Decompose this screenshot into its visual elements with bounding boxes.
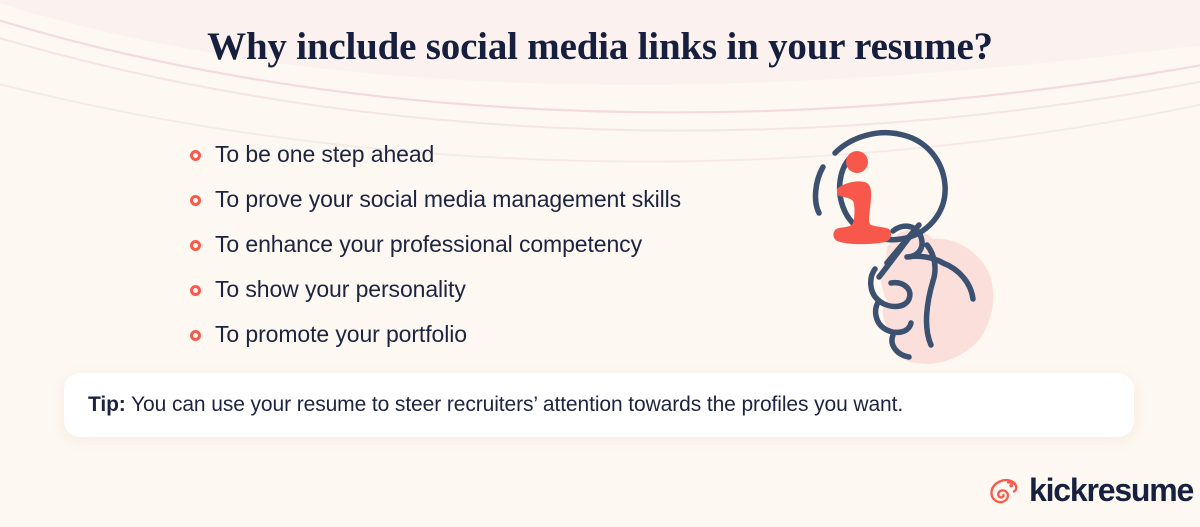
benefits-list: To be one step ahead To prove your socia… [190,132,790,357]
list-item: To show your personality [190,267,790,312]
page-title: Why include social media links in your r… [0,24,1200,69]
bullet-ring-icon [190,240,201,251]
tip-text: Tip: You can use your resume to steer re… [88,393,903,417]
tip-label: Tip: [88,393,126,416]
tip-card: Tip: You can use your resume to steer re… [64,373,1134,437]
tip-body: You can use your resume to steer recruit… [126,393,903,416]
info-dot [846,151,868,173]
kickresume-chameleon-icon [988,474,1020,506]
list-item-label: To enhance your professional competency [215,231,642,258]
list-item: To promote your portfolio [190,312,790,357]
list-item-label: To promote your portfolio [215,321,467,348]
list-item: To enhance your professional competency [190,222,790,267]
list-item-label: To show your personality [215,276,466,303]
logo-wordmark: kickresume [1029,474,1193,506]
list-item: To be one step ahead [190,132,790,177]
bullet-ring-icon [190,285,201,296]
bullet-ring-icon [190,330,201,341]
info-stem [833,181,891,244]
magnifying-glass-info-illustration [775,105,1025,365]
list-item: To prove your social media management sk… [190,177,790,222]
bullet-ring-icon [190,195,201,206]
bullet-ring-icon [190,150,201,161]
list-item-label: To be one step ahead [215,141,434,168]
list-item-label: To prove your social media management sk… [215,186,681,213]
kickresume-logo[interactable]: kickresume [988,474,1193,506]
infographic-canvas: Why include social media links in your r… [0,0,1200,527]
